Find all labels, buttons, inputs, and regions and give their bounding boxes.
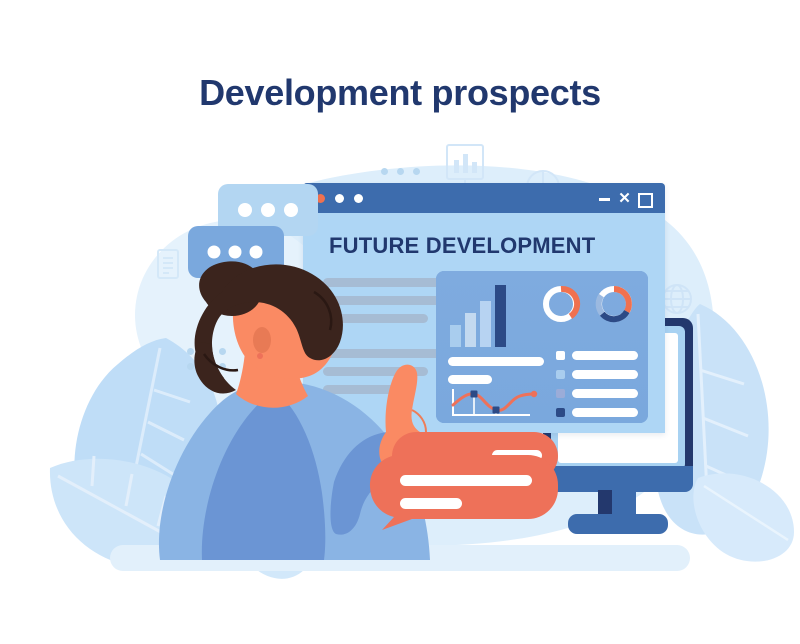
leaf-decoration-lower-right: [690, 460, 800, 570]
dashboard-donut-chart-2: [593, 283, 635, 325]
browser-heading: FUTURE DEVELOPMENT: [329, 233, 595, 259]
close-icon[interactable]: ✕: [618, 192, 631, 205]
page-title: Development prospects: [0, 72, 800, 114]
dashboard-bar-chart: [448, 285, 518, 347]
monitor-base: [568, 514, 668, 534]
traffic-light-maximize-icon[interactable]: [354, 194, 363, 203]
list-item-bar: [572, 389, 638, 398]
list-item-bar: [572, 370, 638, 379]
list-marker: [556, 351, 565, 360]
traffic-light-minimize-icon[interactable]: [335, 194, 344, 203]
list-marker: [556, 370, 565, 379]
minimize-icon[interactable]: [599, 198, 610, 201]
list-item-bar: [572, 408, 638, 417]
list-marker: [556, 389, 565, 398]
globe-icon: [660, 282, 694, 316]
illustration-canvas: Development prospects: [0, 0, 800, 644]
list-marker: [556, 408, 565, 417]
coral-bubble-large: [368, 455, 558, 530]
dashboard-donut-chart-1: [540, 283, 582, 325]
monitor-chin: [543, 466, 693, 492]
list-item-bar: [572, 351, 638, 360]
maximize-icon[interactable]: [638, 193, 653, 208]
browser-titlebar: ✕: [303, 183, 665, 213]
